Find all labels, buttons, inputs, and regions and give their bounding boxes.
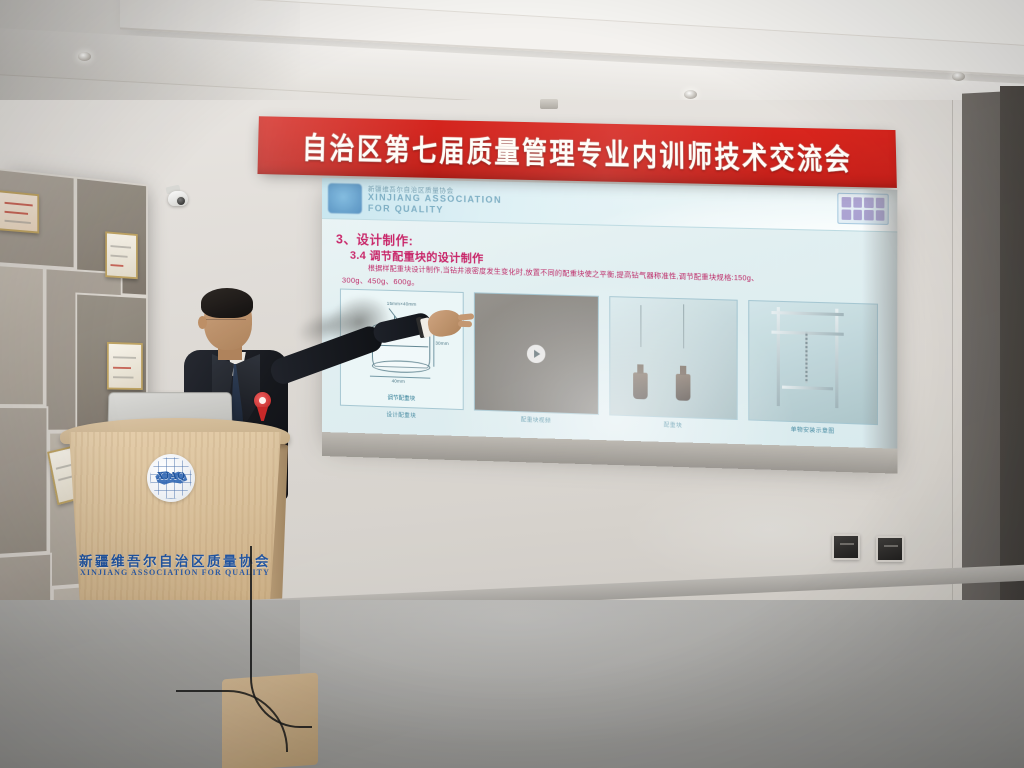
certificate-line (111, 255, 128, 258)
ceiling-fixture (540, 99, 558, 109)
certificate-line (4, 202, 32, 207)
framed-certificate (107, 342, 143, 390)
security-camera-icon (166, 186, 192, 208)
socket-slot (840, 543, 854, 545)
certificate-line (4, 211, 27, 215)
weight-block-object (633, 372, 648, 399)
badge-block (842, 197, 851, 208)
certificate-line (113, 356, 136, 359)
shelf-cell (0, 406, 48, 556)
certificate-line (111, 264, 124, 267)
slide-body-text-2: 300g、450g、600g。 (342, 275, 419, 288)
conference-room-photo: 新疆维吾尔自治区质量协会 XINJIANG ASSOCIATION FOR QU… (0, 0, 1024, 768)
frame-beam (772, 330, 844, 335)
slide-header-en: XINJIANG ASSOCIATION FOR QUALITY (368, 192, 502, 217)
badge-block (842, 209, 851, 220)
presenter-finger (458, 321, 472, 327)
slide-body-text: 根据样配重块设计制作,当钻井液密度发生变化时,放置不同的配重块使之平衡,提高钻气… (368, 263, 882, 288)
presenter-upper-arm (268, 323, 386, 387)
diagram-dim-top: 15mm×40mm (387, 301, 417, 307)
wall-seam (952, 100, 953, 620)
frame-beam (772, 311, 844, 316)
downlight (78, 52, 91, 61)
wall-socket-icon[interactable] (832, 534, 860, 560)
slide-panel: 配重块视频 (473, 292, 599, 426)
weight-block-object (675, 374, 690, 401)
banner-title: 自治区第七届质量管理专业内训师技术交流会 (302, 125, 853, 179)
floor-light-reflection (300, 600, 1024, 768)
panel-caption: 配重块视频 (473, 414, 599, 427)
slide-panel: 单物安装示意图 (748, 300, 878, 437)
slide-logo-icon (328, 183, 362, 214)
certificate-line (4, 220, 30, 224)
panel-caption: 单物安装示意图 (748, 424, 878, 437)
right-wall-edge (1000, 86, 1024, 686)
play-triangle (534, 349, 540, 357)
camera-lens (176, 196, 186, 206)
panel-caption: 配重块 (609, 418, 737, 431)
diagram-dim-right: 30mm (435, 341, 448, 346)
certificate-line (111, 245, 131, 248)
slide-panel: 配重块 (609, 296, 737, 431)
support-rod (683, 304, 685, 349)
frame-column (777, 307, 780, 407)
diagram-dim-bottom: 40mm (392, 379, 405, 384)
shelf-cell (0, 264, 45, 406)
downlight (952, 72, 965, 81)
red-flower-badge (254, 392, 271, 409)
video-thumbnail[interactable] (473, 292, 599, 415)
hanging-chain (805, 331, 807, 383)
weight-block-neck (637, 364, 643, 373)
slide-image-panels: 15mm×40mm 30mm 40mm 调节配重块 设计配重块 (340, 289, 878, 437)
slide-title: 3、设计制作: (336, 228, 413, 249)
weight-block-neck (680, 366, 686, 375)
weight-block-photo (609, 296, 737, 420)
support-rod (640, 305, 642, 347)
downlight (684, 90, 697, 99)
xjaq-logo-icon: XJAQ (147, 454, 195, 502)
frame-column (836, 308, 839, 408)
installation-photo (748, 300, 878, 425)
screen-edge-shading (862, 189, 898, 468)
framed-certificate (105, 231, 137, 279)
framed-certificate (0, 190, 39, 233)
certificate-line (113, 376, 134, 378)
logo-text: XJAQ (147, 471, 195, 482)
presenter-face-line (206, 310, 246, 320)
socket-slot (884, 545, 898, 547)
play-icon[interactable] (527, 344, 545, 363)
frame-beam (782, 385, 833, 390)
certificate-line (113, 367, 131, 369)
wall-socket-icon[interactable] (876, 536, 904, 562)
